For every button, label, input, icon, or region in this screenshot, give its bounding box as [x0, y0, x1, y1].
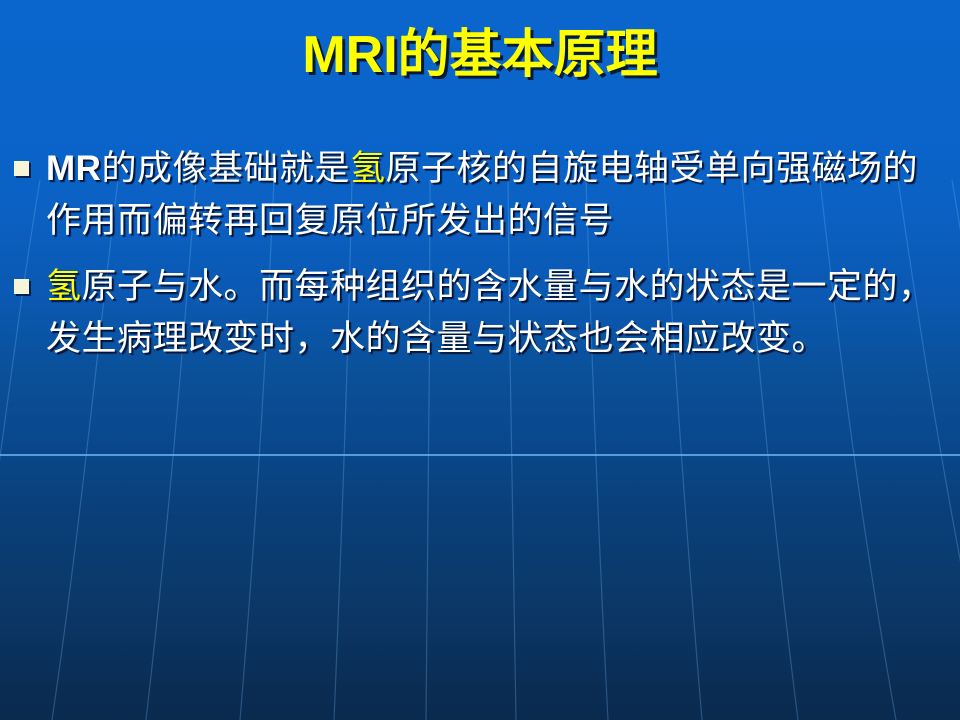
bullet-1-seg-2: 氢 — [350, 149, 386, 189]
bullet-2-seg-0: 氢 — [46, 267, 82, 307]
presentation-slide: MRI的基本原理 MR的成像基础就是氢原子核的自旋电轴受单向强磁场的作用而偏转再… — [0, 0, 960, 720]
square-bullet-icon — [14, 161, 29, 176]
bullet-text-2: 氢原子与水。而每种组织的含水量与水的状态是一定的，发生病理改变时，水的含量与状态… — [46, 261, 952, 365]
slide-title: MRI的基本原理 — [0, 26, 960, 86]
bullet-1-seg-1: 的成像基础就是 — [101, 149, 350, 189]
bullet-text-1: MR的成像基础就是氢原子核的自旋电轴受单向强磁场的作用而偏转再回复原位所发出的信… — [46, 143, 952, 247]
square-bullet-icon — [14, 279, 29, 294]
bullet-1-seg-0: MR — [46, 149, 101, 188]
list-item: 氢原子与水。而每种组织的含水量与水的状态是一定的，发生病理改变时，水的含量与状态… — [8, 261, 952, 365]
bullet-2-seg-1: 原子与水。而每种组织的含水量与水的状态是一定的，发生病理改变时，水的含量与状态也… — [46, 267, 934, 359]
slide-body: MR的成像基础就是氢原子核的自旋电轴受单向强磁场的作用而偏转再回复原位所发出的信… — [8, 143, 952, 379]
list-item: MR的成像基础就是氢原子核的自旋电轴受单向强磁场的作用而偏转再回复原位所发出的信… — [8, 143, 952, 247]
